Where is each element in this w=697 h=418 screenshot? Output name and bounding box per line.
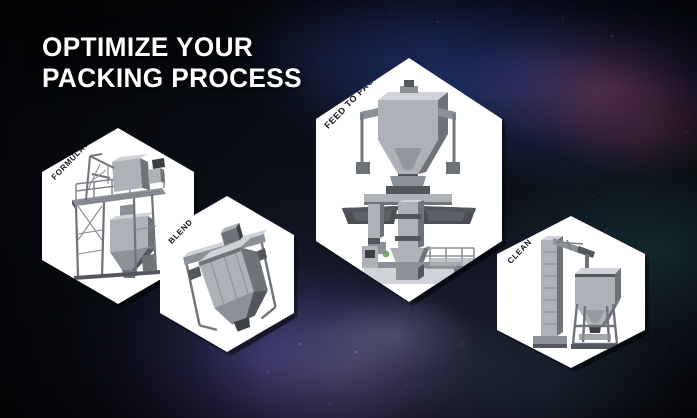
- headline-line-2: PACKING PROCESS: [42, 63, 302, 94]
- headline-line-1: OPTIMIZE YOUR: [42, 32, 302, 63]
- clean-station-icon: [523, 230, 627, 354]
- feed-to-packing-icon: [334, 78, 484, 288]
- page-title: OPTIMIZE YOUR PACKING PROCESS: [42, 32, 310, 94]
- promo-banner: OPTIMIZE YOUR PACKING PROCESS: [0, 0, 697, 418]
- blender-icon: [176, 218, 284, 334]
- headline-line-1-rest: YOUR: [169, 32, 253, 62]
- headline-emphasis: OPTIMIZE: [42, 32, 169, 62]
